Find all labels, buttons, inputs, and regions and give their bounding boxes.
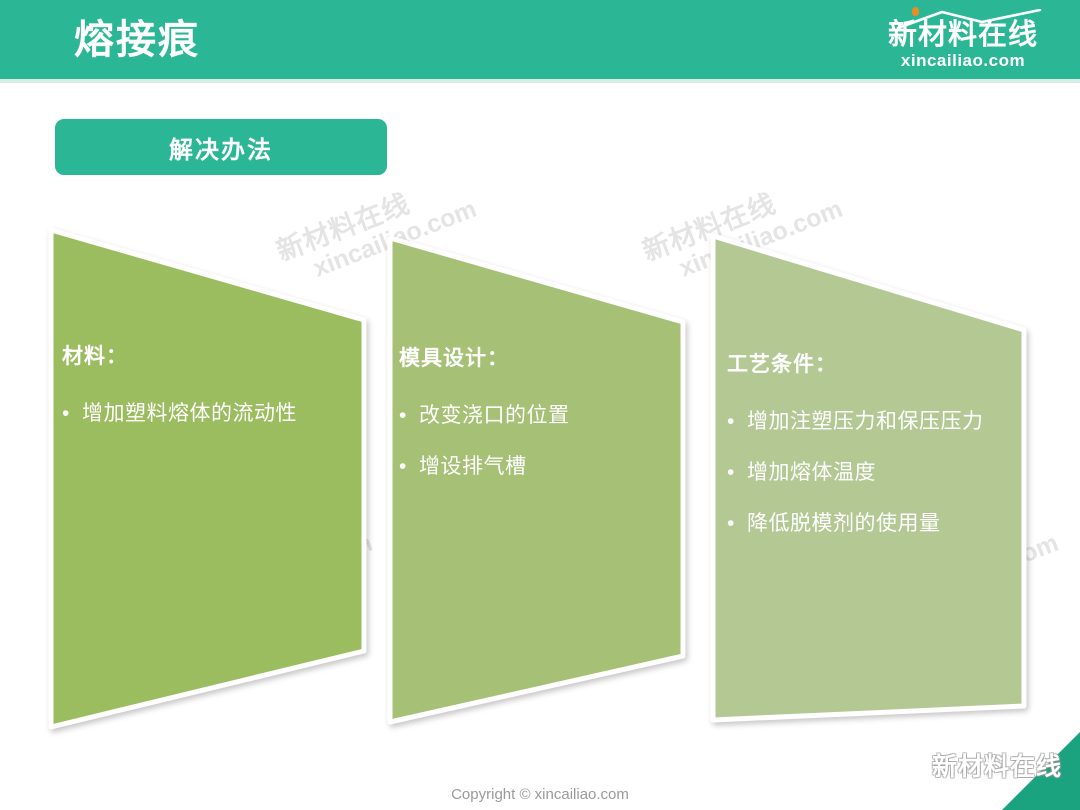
footer-copyright: Copyright © xincailiao.com: [0, 786, 1080, 803]
list-item: 增设排气槽: [399, 449, 674, 486]
solution-panel-process-conditions[interactable]: 工艺条件： 增加注塑压力和保压压力 增加熔体温度 降低脱模剂的使用量: [706, 230, 1036, 730]
panel-3-heading: 工艺条件：: [727, 348, 1005, 378]
panel-2-heading: 模具设计：: [399, 342, 674, 372]
list-item: 增加熔体温度: [727, 455, 1005, 492]
wechat-icon: [883, 749, 923, 782]
wechat-follow-badge[interactable]: 新材料在线: [883, 748, 1062, 782]
list-item: 增加注塑压力和保压压力: [727, 404, 1005, 441]
wechat-label: 新材料在线: [932, 747, 1062, 783]
panel-1-bullet-list: 增加塑料熔体的流动性: [62, 396, 347, 433]
solution-panel-mold-design[interactable]: 模具设计： 改变浇口的位置 增设排气槽: [383, 232, 703, 732]
solution-panels: 材料： 增加塑料熔体的流动性 模具设计： 改变浇口的位置 增设排气槽 工艺条件：…: [0, 0, 1080, 810]
panel-1-content: 材料： 增加塑料熔体的流动性: [62, 340, 347, 447]
panel-1-heading: 材料：: [62, 340, 347, 370]
panel-2-bullet-list: 改变浇口的位置 增设排气槽: [399, 398, 674, 486]
solution-panel-material[interactable]: 材料： 增加塑料熔体的流动性: [44, 224, 384, 734]
panel-3-content: 工艺条件： 增加注塑压力和保压压力 增加熔体温度 降低脱模剂的使用量: [727, 348, 1005, 556]
panel-3-bullet-list: 增加注塑压力和保压压力 增加熔体温度 降低脱模剂的使用量: [727, 404, 1005, 542]
panel-2-content: 模具设计： 改变浇口的位置 增设排气槽: [399, 342, 674, 500]
list-item: 增加塑料熔体的流动性: [62, 396, 347, 433]
list-item: 降低脱模剂的使用量: [727, 506, 1005, 543]
list-item: 改变浇口的位置: [399, 398, 674, 435]
